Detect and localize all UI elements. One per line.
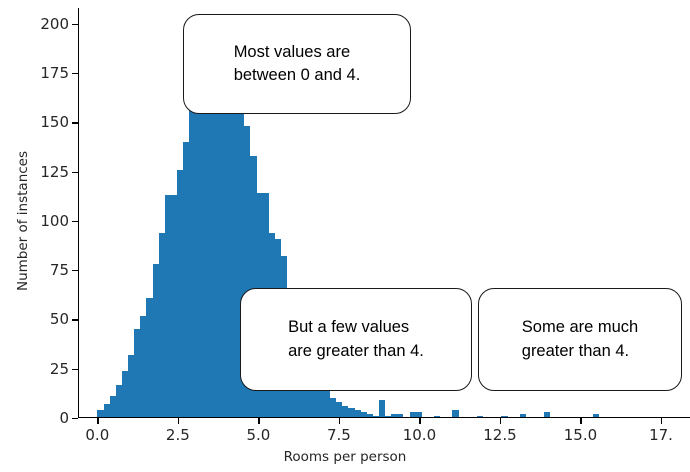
y-tick-label: 100: [40, 212, 69, 230]
x-tick-label: 0.0: [85, 426, 109, 444]
y-tick-label: 175: [40, 64, 69, 82]
x-tick-mark: [661, 418, 662, 424]
y-tick-label: 0: [59, 409, 69, 427]
annotation-few-greater: But a few valuesare greater than 4.: [240, 288, 472, 391]
x-tick-mark: [97, 418, 98, 424]
y-tick-label: 125: [40, 163, 69, 181]
x-tick-mark: [580, 418, 581, 424]
annotation-text-line: are greater than 4.: [288, 340, 424, 363]
x-tick-label: 15.0: [564, 426, 597, 444]
x-tick-label: 7.5: [327, 426, 351, 444]
y-axis-label: Number of instances: [15, 106, 31, 336]
y-tick-mark: [72, 418, 78, 419]
y-tick-label: 25: [50, 360, 69, 378]
annotation-text-line: Most values are: [234, 41, 361, 64]
y-tick-label: 200: [40, 15, 69, 33]
x-axis-spine: [78, 417, 690, 418]
annotation-text-line: greater than 4.: [522, 340, 638, 363]
y-tick-mark: [72, 369, 78, 370]
histogram-figure: 0255075100125150175200 0.02.55.07.510.01…: [0, 0, 690, 472]
x-tick-label: 2.5: [166, 426, 190, 444]
y-tick-mark: [72, 172, 78, 173]
x-tick-mark: [178, 418, 179, 424]
y-tick-label: 75: [50, 261, 69, 279]
y-tick-mark: [72, 24, 78, 25]
y-tick-label: 50: [50, 310, 69, 328]
x-tick-label: 10.0: [403, 426, 436, 444]
y-tick-mark: [72, 73, 78, 74]
annotation-some-much-greater: Some are muchgreater than 4.: [478, 288, 682, 391]
x-tick-mark: [500, 418, 501, 424]
y-tick-mark: [72, 319, 78, 320]
x-tick-label: 5.0: [246, 426, 270, 444]
y-tick-mark: [72, 122, 78, 123]
annotation-text-line: Some are much: [522, 316, 638, 339]
x-axis-label: Rooms per person: [0, 449, 690, 465]
x-tick-mark: [419, 418, 420, 424]
x-tick-mark: [339, 418, 340, 424]
annotation-text-line: But a few values: [288, 316, 424, 339]
y-tick-mark: [72, 221, 78, 222]
x-tick-label: 12.5: [483, 426, 516, 444]
y-tick-label: 150: [40, 113, 69, 131]
x-tick-mark: [258, 418, 259, 424]
annotation-text-line: between 0 and 4.: [234, 64, 361, 87]
y-tick-mark: [72, 270, 78, 271]
annotation-most-values: Most values arebetween 0 and 4.: [183, 14, 411, 114]
y-axis-spine: [78, 8, 79, 418]
x-tick-label: 17.: [649, 426, 673, 444]
